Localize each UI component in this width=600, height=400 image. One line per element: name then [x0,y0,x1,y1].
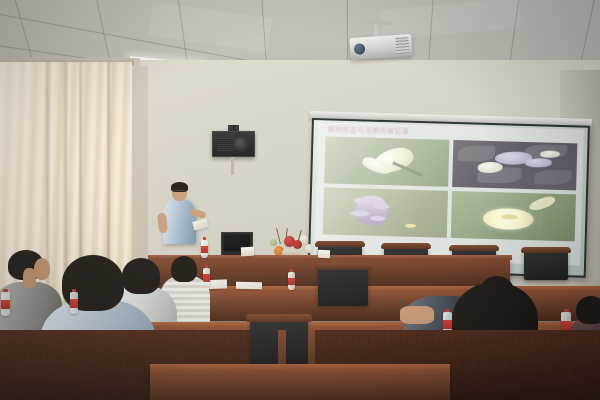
attendee-polo-arm [400,306,434,324]
chair-mid-2-frame [315,263,372,270]
projector-vent [395,37,409,54]
water-bottle-row2-b[interactable] [288,272,295,290]
attendee-striped-hair [171,256,197,282]
slide-photo-bottom-left [323,187,448,237]
filler-white [300,235,308,243]
glasses-icon [173,190,186,193]
conference-room-photo: 植物形态与花期观察记录 [0,0,600,400]
presenter-left-arm [157,213,168,234]
slide-photo-top-left [324,136,449,186]
speaker-cone-icon [234,137,249,152]
greenery [270,239,277,246]
projector[interactable] [349,34,412,60]
projector-lens-icon [354,43,366,55]
attendee-white-hair [122,258,160,294]
desk-row4-edge [150,364,450,370]
chair-front-4-frame [521,247,571,253]
water-bottle-row3-a[interactable] [1,292,10,316]
name-tent-1 [241,247,254,257]
bottle-cap [203,237,207,240]
slide-photo-top-right [452,140,577,190]
bottle-label [201,246,208,253]
chair-front-2-frame [381,243,431,249]
slide-photo-bottom-right [451,191,576,241]
chair-front-4[interactable] [524,250,568,280]
attendee-far-right-hair [576,296,600,324]
chair-mid-2[interactable] [318,266,368,306]
speaker-grille [217,138,235,151]
wall-speaker[interactable] [212,131,255,157]
desk-row4-foreground [150,368,450,400]
chair-mid-1-frame [246,314,312,322]
name-tent-2 [318,250,330,258]
filler-white-2 [305,244,314,253]
slide-photo-grid [323,136,578,241]
attendee-glasses-hand [23,268,36,288]
water-bottle-front[interactable] [201,240,208,258]
chair-front-1-frame [315,241,365,247]
chair-front-3-frame [449,245,499,251]
papers-row2-right [236,282,262,289]
water-bottle-row3-e[interactable] [70,292,78,314]
speaker-support-pole [231,157,234,175]
attendee-glasses-face [34,258,50,280]
